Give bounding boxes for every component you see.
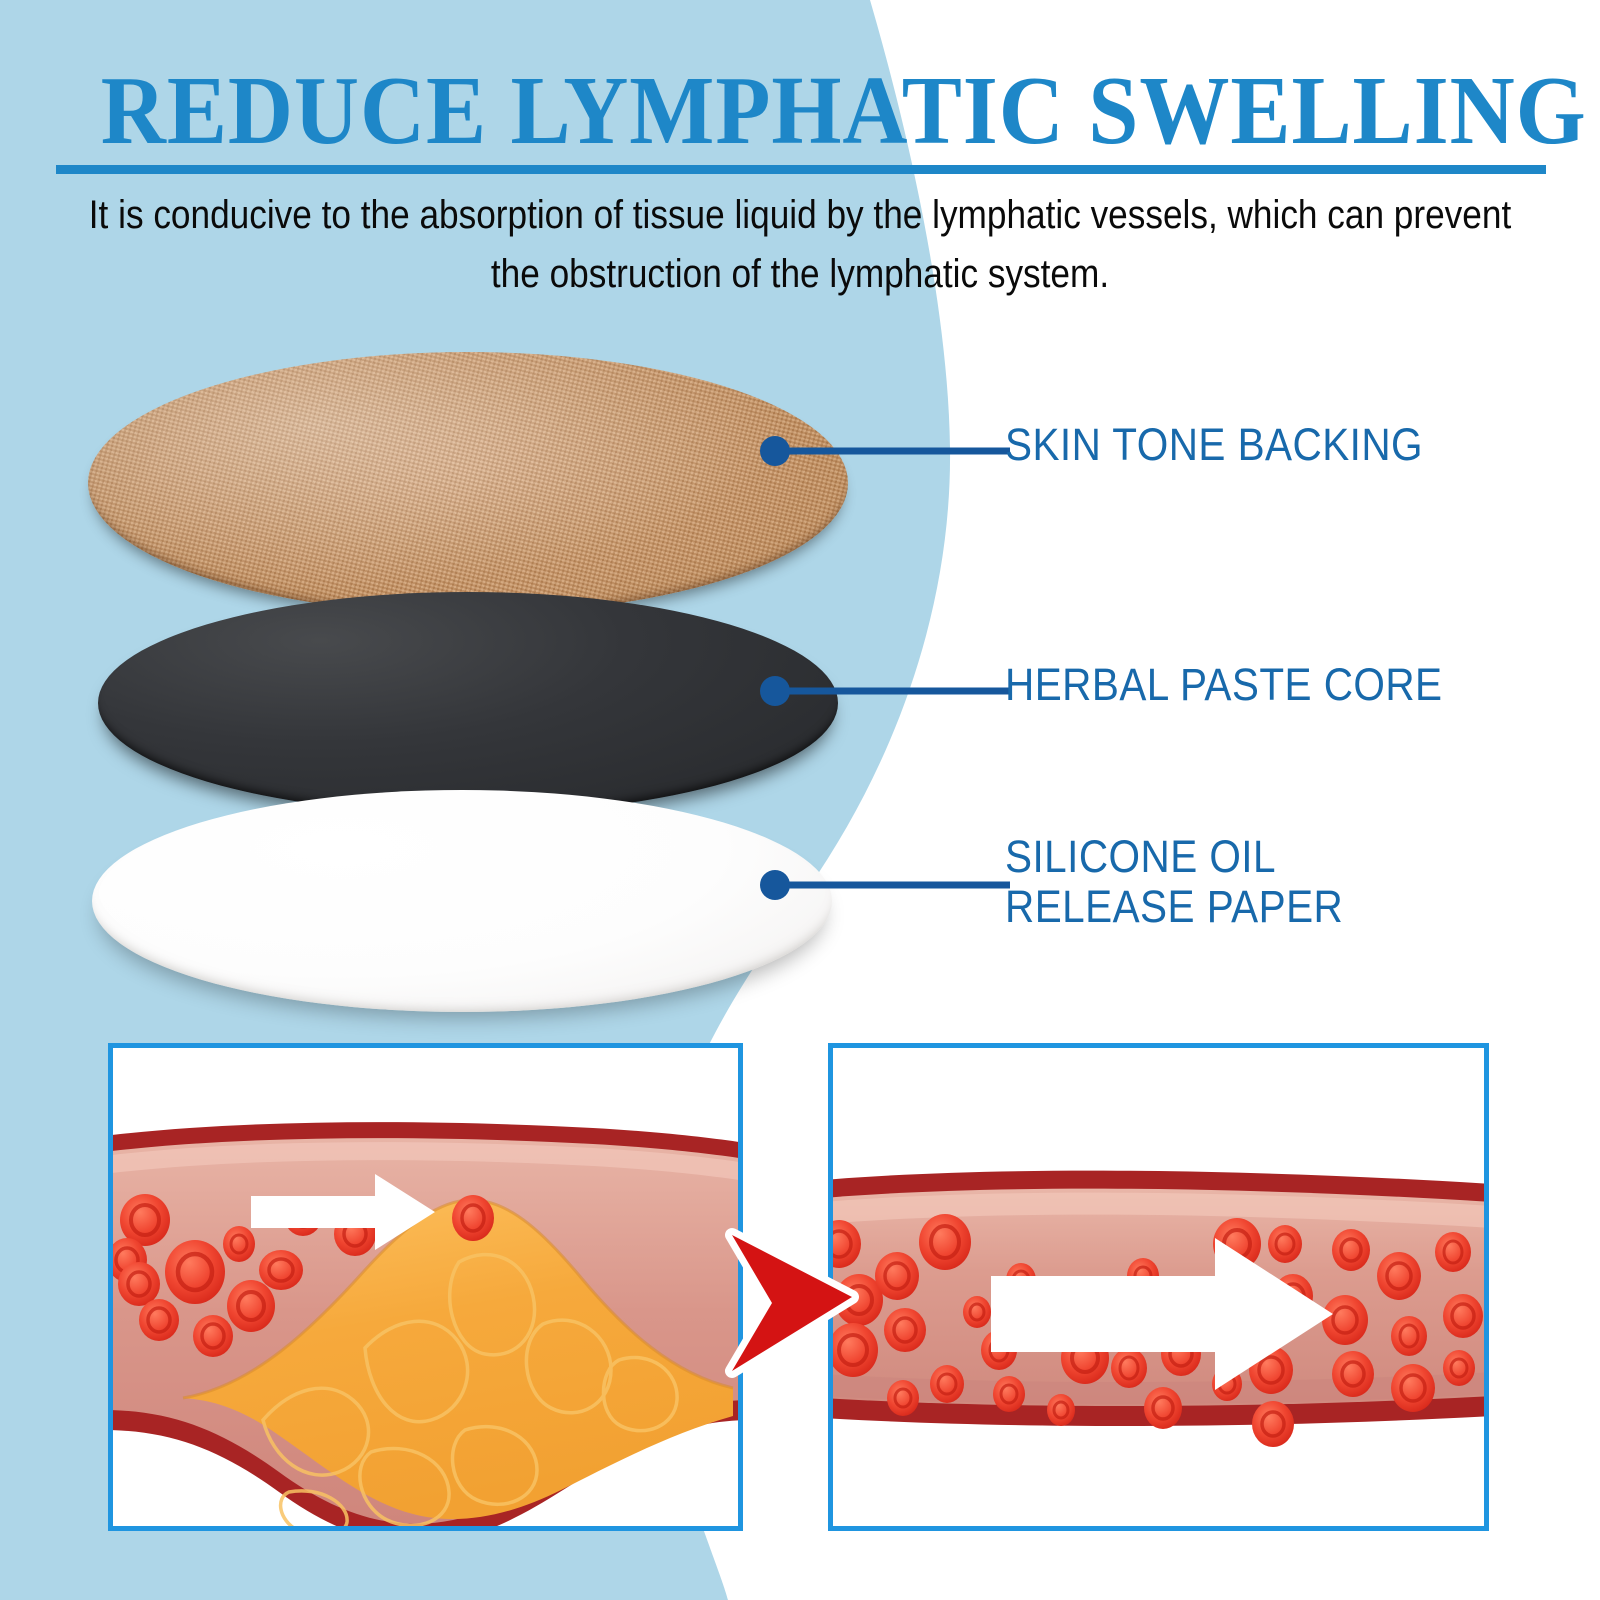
panel-blocked-vessel bbox=[108, 1043, 743, 1531]
panel-clear-vessel bbox=[828, 1043, 1489, 1531]
transition-arrow-icon bbox=[716, 1223, 866, 1383]
before-after-comparison bbox=[0, 0, 1600, 1600]
